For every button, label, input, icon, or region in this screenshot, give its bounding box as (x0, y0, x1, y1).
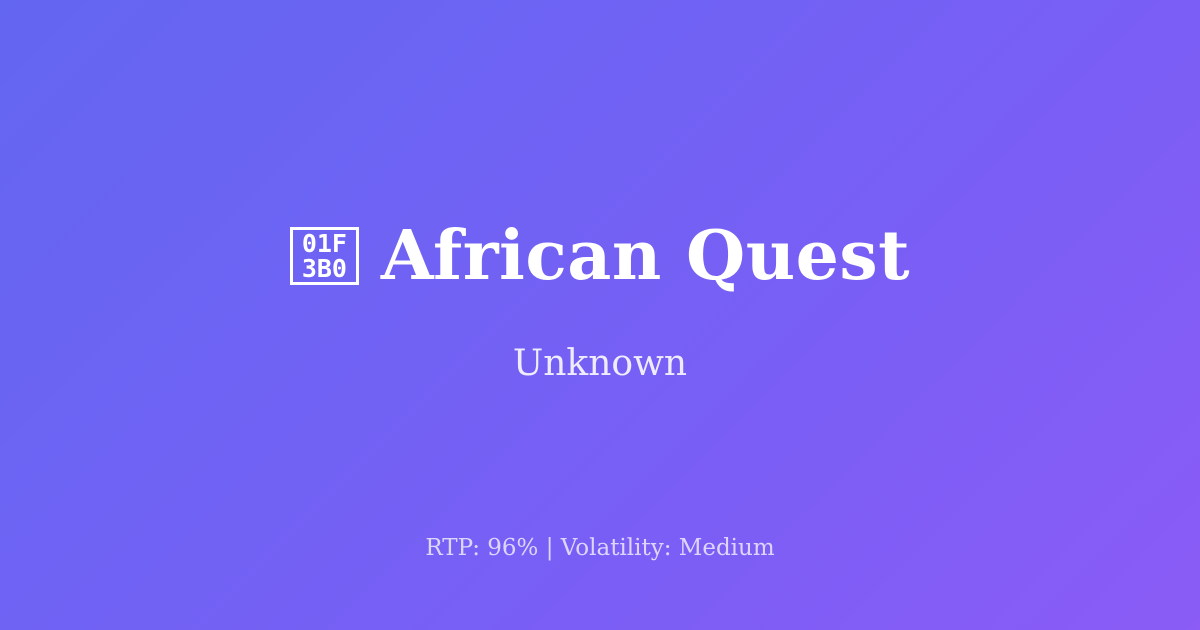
og-share-card: 01F 3B0 African Quest Unknown RTP: 96% |… (0, 0, 1200, 630)
game-stats-line: RTP: 96% | Volatility: Medium (0, 537, 1200, 560)
title-row: 01F 3B0 African Quest (290, 222, 910, 290)
tofu-codepoint-lower: 3B0 (302, 256, 347, 281)
slot-machine-emoji-icon: 01F 3B0 (290, 227, 359, 285)
page-title: African Quest (381, 222, 910, 290)
tofu-codepoint-upper: 01F (302, 231, 347, 256)
provider-subtitle: Unknown (513, 346, 687, 382)
